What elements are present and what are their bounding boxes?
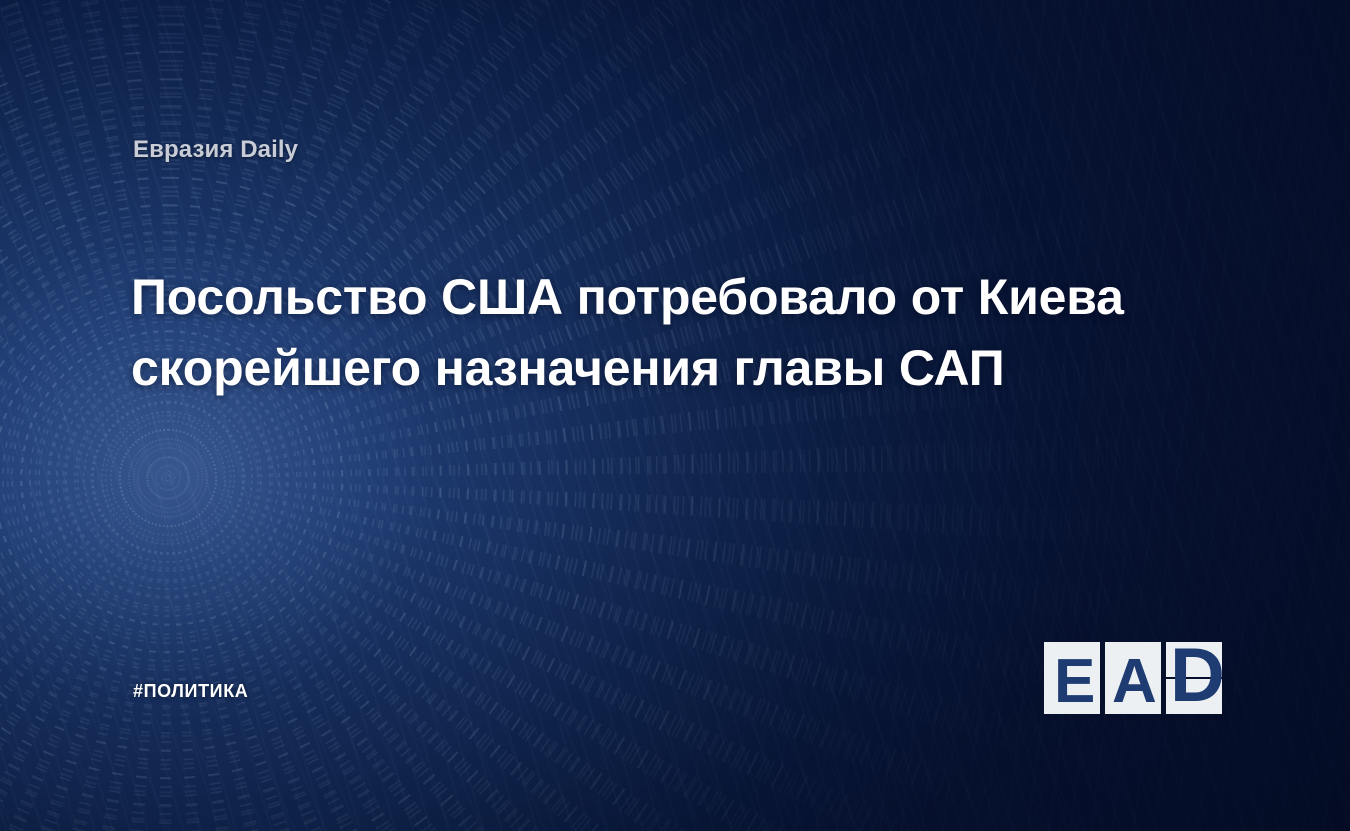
page-title: Посольство США потребовало от Киева скор… [131, 262, 1221, 404]
logo-letter-d: D [1170, 638, 1225, 714]
headline-line-1: Посольство США потребовало от Киева [131, 262, 1221, 333]
logo-letter-a: A [1112, 651, 1157, 713]
logo-letter-e: E [1054, 651, 1095, 713]
ead-logo: D E A D [1044, 628, 1224, 714]
headline-line-2: скорейшего назначения главы САП [131, 333, 1221, 404]
category-tag[interactable]: #ПОЛИТИКА [133, 681, 248, 702]
social-share-card: Евразия Daily Посольство США потребовало… [0, 0, 1350, 831]
card-content: Евразия Daily Посольство США потребовало… [0, 0, 1350, 831]
brand-wordmark: Евразия Daily [133, 136, 298, 164]
